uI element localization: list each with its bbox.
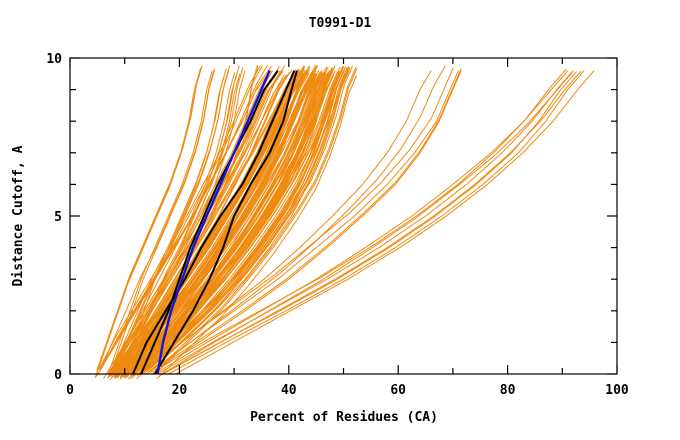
line-chart: T0991-D1 020406080100 0510 Percent of Re…: [0, 0, 680, 440]
x-tick-label-60: 60: [390, 383, 406, 398]
x-tick-label-0: 0: [66, 383, 74, 398]
x-tick-label-100: 100: [605, 383, 629, 398]
y-tick-label-10: 10: [46, 52, 62, 67]
chart-title: T0991-D1: [309, 16, 372, 31]
y-axis-title: Distance Cutoff, A: [11, 145, 26, 286]
x-tick-label-80: 80: [500, 383, 516, 398]
chart-canvas: T0991-D1 020406080100 0510 Percent of Re…: [0, 0, 680, 440]
x-axis-title: Percent of Residues (CA): [250, 410, 438, 425]
y-tick-label-0: 0: [54, 368, 62, 383]
y-tick-label-5: 5: [54, 210, 62, 225]
x-tick-label-40: 40: [281, 383, 297, 398]
x-tick-label-20: 20: [172, 383, 188, 398]
